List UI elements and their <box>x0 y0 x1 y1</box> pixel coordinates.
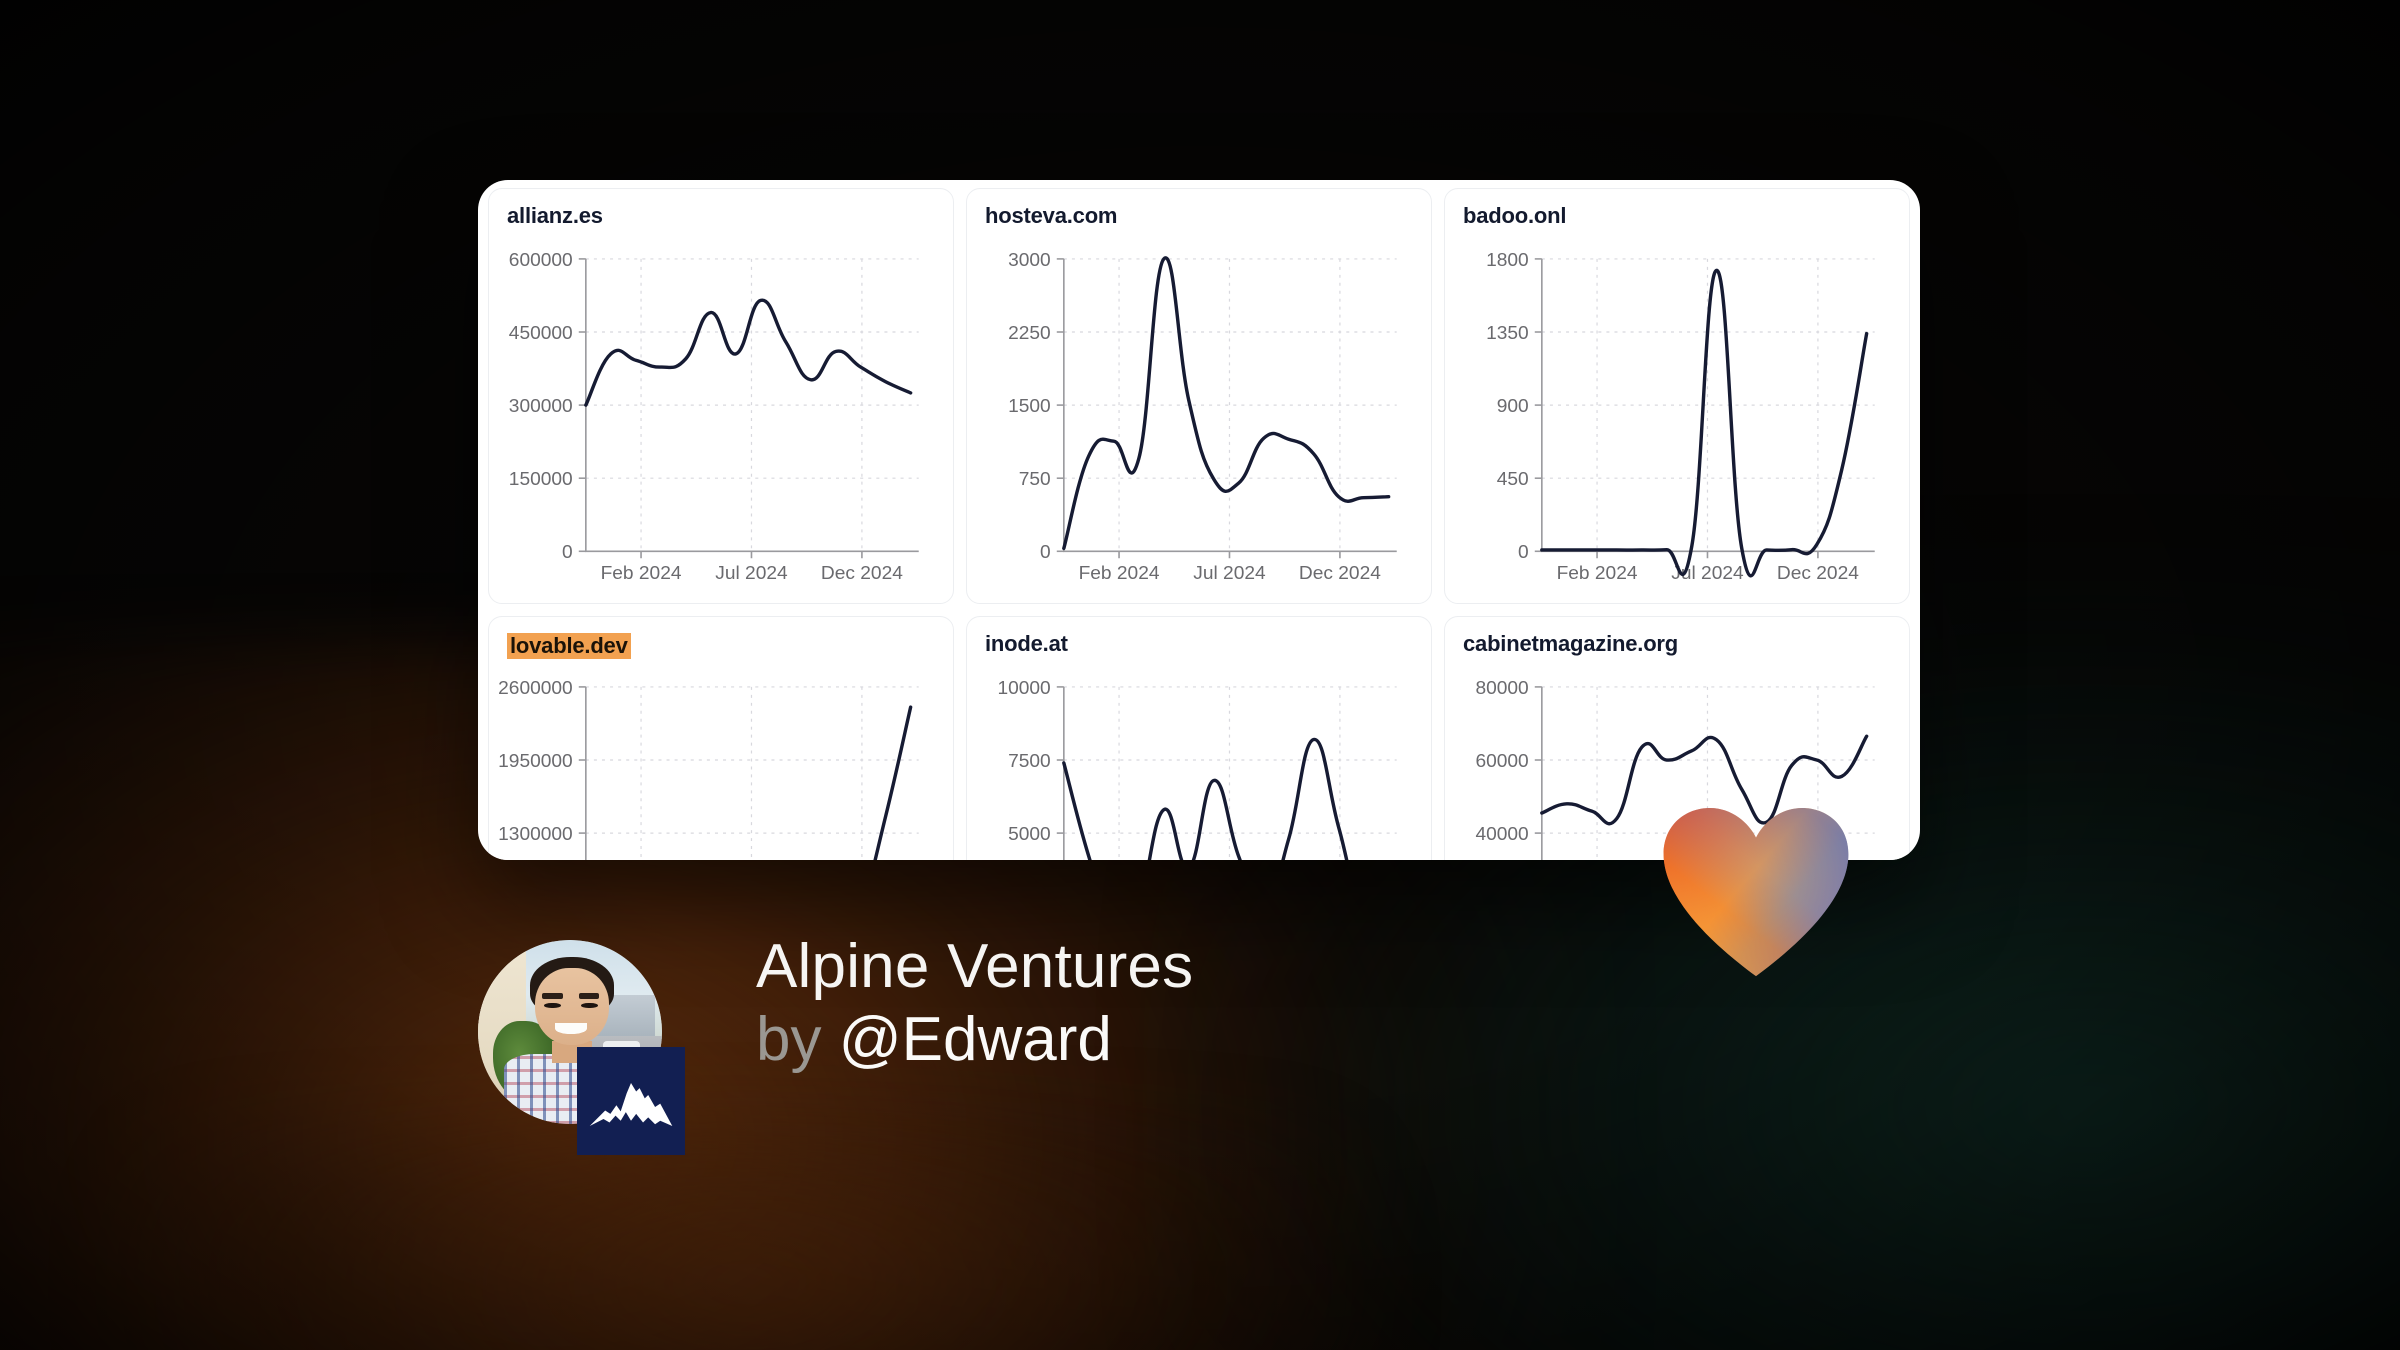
y-tick-label: 1950000 <box>498 751 573 772</box>
chart-card[interactable]: hosteva.com0750150022503000Feb 2024Jul 2… <box>966 188 1432 604</box>
y-tick-label: 3000 <box>1008 250 1051 271</box>
chart-card[interactable]: lovable.dev650000130000019500002600000Fe… <box>488 616 954 860</box>
y-tick-label: 5000 <box>1008 824 1051 845</box>
x-tick-label: Feb 2024 <box>1557 563 1638 584</box>
y-tick-label: 750 <box>1019 469 1051 490</box>
y-tick-label: 1300000 <box>498 824 573 845</box>
y-tick-label: 900 <box>1497 396 1529 417</box>
y-tick-label: 10000 <box>997 678 1050 699</box>
chart-title: badoo.onl <box>1463 205 1566 227</box>
page-title: Alpine Ventures <box>756 930 1656 1003</box>
y-tick-label: 600000 <box>509 250 573 271</box>
y-tick-label: 1800 <box>1486 250 1529 271</box>
byline-prefix: by <box>756 1005 821 1074</box>
heart-icon <box>1662 808 1850 978</box>
x-tick-label: Dec 2024 <box>821 563 903 584</box>
y-tick-label: 0 <box>1040 542 1051 563</box>
chart-plot: 0150000300000450000600000Feb 2024Jul 202… <box>489 243 953 603</box>
chart-card[interactable]: allianz.es0150000300000450000600000Feb 2… <box>488 188 954 604</box>
y-tick-label: 150000 <box>509 469 573 490</box>
y-tick-label: 80000 <box>1475 678 1528 699</box>
chart-title: lovable.dev <box>507 633 631 659</box>
x-tick-label: Jul 2024 <box>715 563 788 584</box>
chart-title: allianz.es <box>507 205 603 227</box>
y-tick-label: 1500 <box>1008 396 1051 417</box>
chart-title: hosteva.com <box>985 205 1117 227</box>
y-tick-label: 300000 <box>509 396 573 417</box>
x-tick-label: Feb 2024 <box>1079 563 1160 584</box>
chart-title: cabinetmagazine.org <box>1463 633 1678 655</box>
chart-card[interactable]: inode.at25005000750010000Feb 2024Jul 202… <box>966 616 1432 860</box>
y-tick-label: 450000 <box>509 323 573 344</box>
chart-title: inode.at <box>985 633 1068 655</box>
x-tick-label: Dec 2024 <box>1777 563 1859 584</box>
x-tick-label: Feb 2024 <box>601 563 682 584</box>
chart-plot: 25005000750010000Feb 2024Jul 2024Dec 202… <box>967 671 1431 860</box>
chart-plot: 0750150022503000Feb 2024Jul 2024Dec 2024 <box>967 243 1431 603</box>
x-tick-label: Dec 2024 <box>1299 563 1381 584</box>
chart-card[interactable]: badoo.onl045090013501800Feb 2024Jul 2024… <box>1444 188 1910 604</box>
footer-identity: Alpine Ventures by @Edward <box>478 930 1678 1190</box>
y-tick-label: 40000 <box>1475 824 1528 845</box>
y-tick-label: 1350 <box>1486 323 1529 344</box>
byline-handle: @Edward <box>839 1005 1112 1074</box>
identity-titles: Alpine Ventures by @Edward <box>756 930 1656 1076</box>
y-tick-label: 60000 <box>1475 751 1528 772</box>
avatar-block <box>478 940 662 1124</box>
y-tick-label: 2600000 <box>498 678 573 699</box>
chart-plot: 045090013501800Feb 2024Jul 2024Dec 2024 <box>1445 243 1909 603</box>
y-tick-label: 0 <box>562 542 573 563</box>
x-tick-label: Jul 2024 <box>1193 563 1266 584</box>
dashboard-panel: allianz.es0150000300000450000600000Feb 2… <box>478 180 1920 860</box>
byline: by @Edward <box>756 1003 1656 1076</box>
chart-grid: allianz.es0150000300000450000600000Feb 2… <box>478 180 1920 860</box>
mountain-icon <box>577 1047 685 1155</box>
chart-plot: 650000130000019500002600000Feb 2024Jul 2… <box>489 671 953 860</box>
y-tick-label: 2250 <box>1008 323 1051 344</box>
y-tick-label: 450 <box>1497 469 1529 490</box>
y-tick-label: 7500 <box>1008 751 1051 772</box>
y-tick-label: 0 <box>1518 542 1529 563</box>
